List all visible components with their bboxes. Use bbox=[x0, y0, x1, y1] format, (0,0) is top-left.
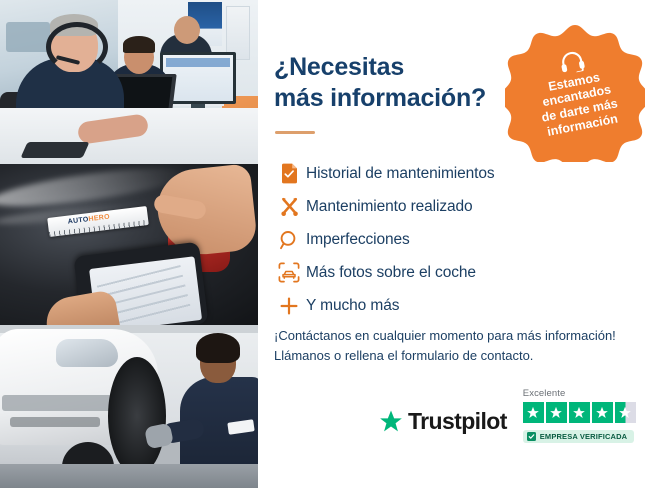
verified-badge: EMPRESA VERIFICADA bbox=[523, 430, 634, 443]
car-grille bbox=[2, 395, 112, 411]
feature-item-maintenance-done: Mantenimiento realizado bbox=[272, 190, 612, 223]
ruler-brand-auto: AUTO bbox=[67, 216, 89, 225]
workshop-lift-platform bbox=[0, 464, 258, 488]
feature-item-more-photos: Más fotos sobre el coche bbox=[272, 256, 612, 289]
agent-three-head bbox=[174, 16, 200, 44]
car-scan-icon bbox=[272, 262, 306, 283]
star-filled-3 bbox=[569, 402, 590, 423]
call-center-agents-photo bbox=[0, 0, 258, 164]
photo-column: AUTOHERO bbox=[0, 0, 258, 488]
desk-tablet bbox=[20, 142, 89, 158]
ruler-brand-hero: HERO bbox=[88, 214, 110, 224]
star-filled-2 bbox=[546, 402, 567, 423]
feature-label: Mantenimiento realizado bbox=[306, 198, 473, 216]
title-divider bbox=[275, 131, 315, 134]
feature-list: Historial de mantenimientos M bbox=[272, 157, 612, 322]
star-filled-1 bbox=[523, 402, 544, 423]
feature-label: Historial de mantenimientos bbox=[306, 165, 495, 183]
star-half-5 bbox=[615, 402, 636, 423]
star-filled-4 bbox=[592, 402, 613, 423]
page-title: ¿Necesitas más información? bbox=[274, 52, 486, 113]
more-information-promo-card: AUTOHERO bbox=[0, 0, 650, 488]
feature-label: Más fotos sobre el coche bbox=[306, 264, 476, 282]
rating-stars bbox=[523, 402, 636, 423]
contact-line-2: Llámanos o rellena el formulario de cont… bbox=[274, 346, 644, 366]
check-square-icon bbox=[527, 432, 536, 441]
mechanic-wheel-check-photo bbox=[0, 325, 258, 488]
rating-label: Excelente bbox=[523, 388, 636, 399]
trustpilot-block[interactable]: Trustpilot Excelente bbox=[378, 388, 636, 443]
feature-item-maintenance-history: Historial de mantenimientos bbox=[272, 157, 612, 190]
starburst-shape-icon bbox=[505, 22, 645, 162]
content-panel: ¿Necesitas más información? Estamos enca… bbox=[258, 0, 650, 488]
clipboard-check-icon bbox=[272, 163, 306, 184]
tools-crossed-icon bbox=[272, 196, 306, 217]
info-badge: Estamos encantados de darte más informac… bbox=[505, 22, 645, 162]
magnifier-icon bbox=[272, 230, 306, 250]
contact-line-1: ¡Contáctanos en cualquier momento para m… bbox=[274, 326, 644, 346]
feature-item-much-more: Y mucho más bbox=[272, 289, 612, 322]
star-icon bbox=[378, 409, 404, 435]
headline-line-2: más información? bbox=[274, 84, 486, 112]
car-headlight bbox=[56, 339, 118, 367]
contact-text: ¡Contáctanos en cualquier momento para m… bbox=[274, 326, 644, 366]
trustpilot-rating: Excelente bbox=[523, 388, 636, 443]
ruler-brand: AUTOHERO bbox=[67, 214, 110, 226]
front-wheel bbox=[108, 357, 166, 475]
feature-label: Y mucho más bbox=[306, 297, 399, 315]
trustpilot-logo[interactable]: Trustpilot bbox=[378, 408, 507, 435]
agent-two-hair bbox=[123, 36, 155, 53]
verified-label: EMPRESA VERIFICADA bbox=[540, 432, 627, 441]
monitor-screen-bar bbox=[166, 58, 230, 67]
trustpilot-wordmark: Trustpilot bbox=[408, 408, 507, 435]
feature-item-imperfections: Imperfecciones bbox=[272, 223, 612, 256]
headline-line-1: ¿Necesitas bbox=[274, 53, 404, 81]
feature-label: Imperfecciones bbox=[306, 231, 410, 249]
plus-icon bbox=[272, 296, 306, 316]
car-inspection-ruler-photo: AUTOHERO bbox=[0, 164, 258, 325]
mechanic-hair bbox=[196, 333, 240, 363]
car-lower-grille bbox=[10, 417, 100, 427]
